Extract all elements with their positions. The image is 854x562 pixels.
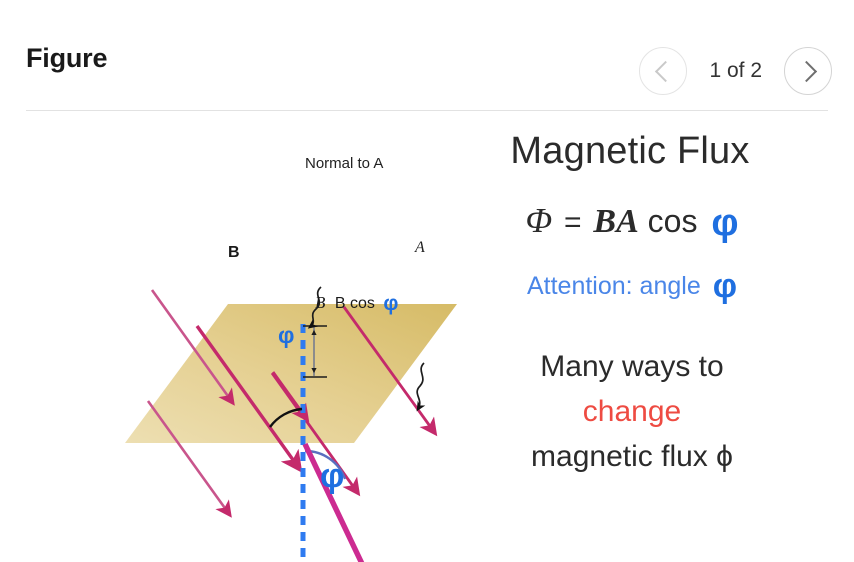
label-b-cos-phi: B B cos φ (315, 292, 398, 316)
formula-flux-symbol: Φ (525, 201, 552, 240)
previous-figure-button[interactable] (639, 47, 687, 95)
label-angle-phi-upper: φ (278, 322, 294, 349)
figure-header: Figure 1 of 2 (0, 0, 854, 111)
many-ways-line: Many ways to (462, 344, 802, 389)
formula-equals: = (561, 206, 585, 239)
attention-note: Attention: angle φ (462, 267, 802, 306)
label-angle-phi-lower: φ (320, 457, 344, 496)
flux-formula: Φ = BA cos φ (462, 201, 802, 245)
label-b-cos-phi-symbol: φ (379, 292, 398, 315)
resultant-field-arrow (305, 444, 385, 562)
formula-phi: φ (706, 202, 738, 244)
figure-pager: 1 of 2 (639, 45, 832, 97)
attention-note-phi: φ (708, 267, 737, 305)
label-normal-to-a: Normal to A (305, 155, 383, 172)
attention-note-text: Attention: angle (527, 272, 701, 300)
formula-cos: cos (648, 203, 698, 239)
page-title: Figure (26, 45, 107, 72)
page-indicator: 1 of 2 (687, 59, 784, 83)
chevron-left-icon (655, 60, 676, 81)
next-figure-button[interactable] (784, 47, 832, 95)
label-b-field: B (228, 244, 240, 262)
label-b-cos-phi-cos: B cos (330, 295, 375, 312)
magnetic-flux-line: magnetic flux ϕ (462, 434, 802, 479)
change-line: change (462, 389, 802, 434)
area-a-leader-icon (417, 363, 424, 409)
figure-content: Normal to A B A B B cos φ φ φ Magnetic F… (0, 111, 854, 562)
chevron-right-icon (795, 60, 816, 81)
figure-text-panel: Magnetic Flux Φ = BA cos φ Attention: an… (462, 131, 802, 479)
label-b-cos-phi-b: B (315, 293, 325, 312)
formula-ba: BA (593, 203, 638, 240)
label-normal-to-a-text: Normal to A (305, 155, 383, 172)
label-area-a: A (415, 239, 425, 257)
flux-title: Magnetic Flux (458, 131, 802, 173)
